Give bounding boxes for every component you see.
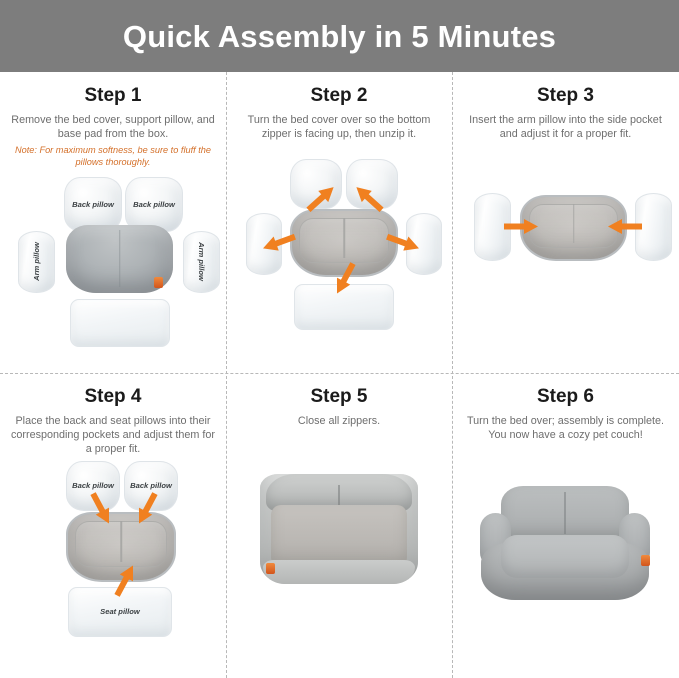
base-pad-2 (294, 284, 394, 330)
step-4-description: Place the back and seat pillows into the… (9, 414, 217, 457)
back-pillow-right-1: Back pillow (125, 177, 183, 232)
step-1-note: Note: For maximum softness, be sure to f… (14, 145, 212, 169)
arm-pillow-right-1: Arm pillow (183, 231, 220, 293)
step-panel-6: Step 6 Turn the bed over; assembly is co… (452, 373, 679, 678)
seat-pillow-label: Seat pillow (100, 607, 140, 616)
back-pillow-right-label-4: Back pillow (130, 481, 172, 490)
page-title: Quick Assembly in 5 Minutes (123, 21, 556, 52)
step-5-description: Close all zippers. (298, 414, 380, 428)
step-2-illustration (234, 141, 444, 373)
finished-pet-couch (478, 478, 652, 602)
bed-cover-flipped-3 (520, 195, 627, 261)
seat-pillow-4: Seat pillow (68, 587, 172, 637)
steps-grid: Step 1 Remove the bed cover, support pil… (0, 72, 679, 678)
arm-pillow-right-3 (635, 193, 672, 261)
step-2-title: Step 2 (310, 86, 367, 107)
step-1-illustration: Back pillow Back pillow Arm pillow Arm p… (8, 169, 218, 373)
arm-pillow-left-3 (474, 193, 511, 261)
header-banner: Quick Assembly in 5 Minutes (0, 0, 679, 72)
step-6-title: Step 6 (537, 387, 594, 408)
step-2-description: Turn the bed cover over so the bottom zi… (235, 113, 443, 142)
step-panel-4: Step 4 Place the back and seat pillows i… (0, 373, 226, 678)
step-3-description: Insert the arm pillow into the side pock… (462, 113, 670, 142)
orange-hang-tag (154, 277, 163, 288)
arm-pillow-right-label: Arm pillow (197, 243, 206, 282)
arm-pillow-left-label: Arm pillow (32, 243, 41, 282)
step-6-description: Turn the bed over; assembly is complete.… (462, 414, 670, 443)
back-pillow-left-1: Back pillow (64, 177, 122, 232)
back-pillow-right-label: Back pillow (133, 200, 175, 209)
step-6-illustration (460, 442, 671, 678)
back-pillow-left-2 (290, 159, 342, 209)
step-1-description: Remove the bed cover, support pillow, an… (9, 113, 217, 142)
back-pillow-right-4: Back pillow (124, 461, 178, 511)
step-5-illustration (234, 428, 444, 678)
back-pillow-left-4: Back pillow (66, 461, 120, 511)
step-panel-5: Step 5 Close all zippers. (226, 373, 452, 678)
arm-pillow-left-1: Arm pillow (18, 231, 55, 293)
bed-cover-flipped-4 (66, 512, 176, 582)
step-panel-1: Step 1 Remove the bed cover, support pil… (0, 72, 226, 373)
step-4-illustration: Back pillow Back pillow Seat pillow (8, 457, 218, 678)
bed-cover-flipped-2 (290, 209, 398, 277)
step-5-title: Step 5 (310, 387, 367, 408)
arm-pillow-right-2 (406, 213, 442, 275)
assembly-infographic: Quick Assembly in 5 Minutes Step 1 Remov… (0, 0, 679, 678)
base-pad-1 (70, 299, 170, 347)
step-panel-3: Step 3 Insert the arm pillow into the si… (452, 72, 679, 373)
bed-cover-1 (66, 225, 173, 293)
orange-hang-tag-6 (641, 555, 650, 566)
step-3-illustration (460, 141, 671, 373)
assembled-bed-upside-down (260, 474, 418, 584)
back-pillow-right-2 (346, 159, 398, 209)
step-4-title: Step 4 (84, 387, 141, 408)
back-pillow-left-label: Back pillow (72, 200, 114, 209)
step-panel-2: Step 2 Turn the bed cover over so the bo… (226, 72, 452, 373)
orange-hang-tag-5 (266, 563, 275, 574)
step-3-title: Step 3 (537, 86, 594, 107)
back-pillow-left-label-4: Back pillow (72, 481, 114, 490)
arm-pillow-left-2 (246, 213, 282, 275)
step-1-title: Step 1 (84, 86, 141, 107)
